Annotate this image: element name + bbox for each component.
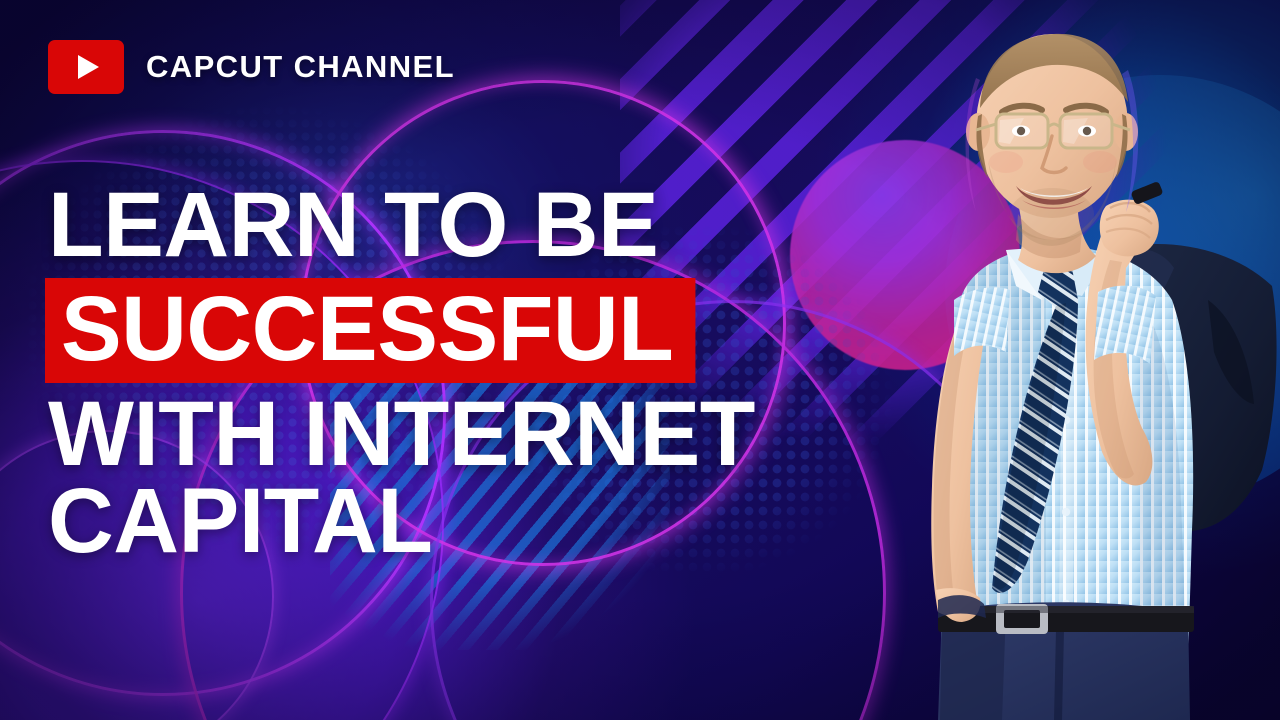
background-magenta-sphere	[790, 140, 1020, 370]
eyebrow-left	[1002, 106, 1042, 112]
headline-line-4: CAPITAL	[48, 478, 755, 564]
youtube-play-icon[interactable]	[48, 40, 124, 94]
headline-line-3: WITH INTERNET	[48, 391, 755, 477]
headline-line-1: LEARN TO BE	[48, 182, 755, 268]
headline: LEARN TO BE SUCCESSFUL WITH INTERNET CAP…	[48, 182, 762, 564]
belt	[938, 606, 1194, 632]
youtube-thumbnail: CAPCUT CHANNEL LEARN TO BE SUCCESSFUL WI…	[0, 0, 1280, 720]
headline-line-2-highlight: SUCCESSFUL	[45, 278, 695, 383]
hand-left-in-pocket	[936, 588, 980, 622]
trousers	[938, 602, 1190, 720]
channel-name: CAPCUT CHANNEL	[146, 49, 455, 85]
belt-buckle	[996, 604, 1048, 634]
channel-badge[interactable]: CAPCUT CHANNEL	[48, 40, 455, 94]
play-triangle-icon	[78, 55, 99, 79]
ear-left	[966, 113, 990, 151]
